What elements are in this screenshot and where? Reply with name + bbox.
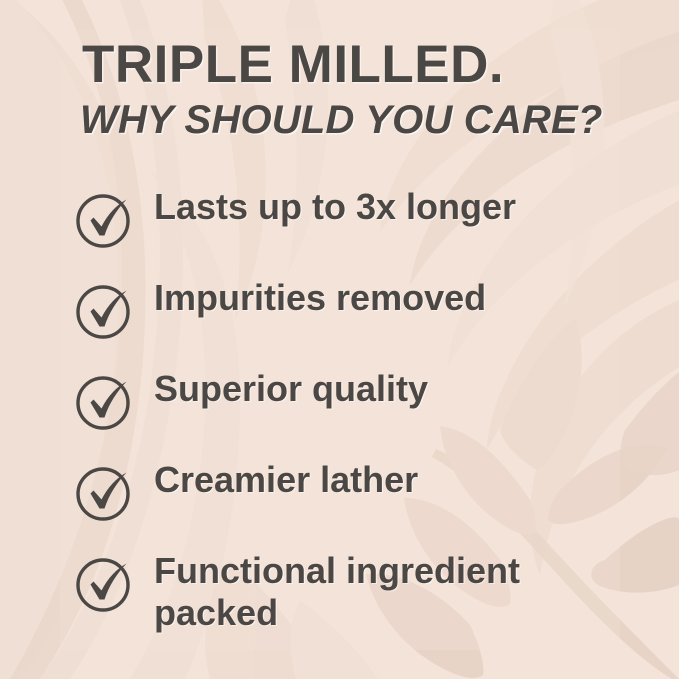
benefit-label: Creamier lather: [154, 459, 584, 501]
benefit-label: Superior quality: [154, 368, 584, 410]
check-circle-icon: [72, 188, 138, 250]
check-circle-icon: [72, 461, 138, 523]
list-item: Superior quality: [72, 368, 672, 432]
benefit-label: Functional ingredient packed: [154, 550, 584, 635]
list-item: Functional ingredient packed: [72, 550, 672, 635]
check-circle-icon: [72, 370, 138, 432]
benefit-label: Lasts up to 3x longer: [154, 186, 584, 228]
list-item: Creamier lather: [72, 459, 672, 523]
infographic-canvas: TRIPLE MILLED. WHY SHOULD YOU CARE? Last…: [0, 0, 679, 679]
benefits-list: Lasts up to 3x longer Impurities removed: [72, 186, 672, 635]
heading-block: TRIPLE MILLED. WHY SHOULD YOU CARE?: [82, 38, 662, 140]
benefit-label: Impurities removed: [154, 277, 584, 319]
page-subtitle: WHY SHOULD YOU CARE?: [80, 100, 662, 140]
page-title: TRIPLE MILLED.: [82, 38, 662, 91]
check-circle-icon: [72, 279, 138, 341]
list-item: Lasts up to 3x longer: [72, 186, 672, 250]
content-layer: TRIPLE MILLED. WHY SHOULD YOU CARE? Last…: [0, 0, 679, 679]
list-item: Impurities removed: [72, 277, 672, 341]
check-circle-icon: [72, 552, 138, 614]
